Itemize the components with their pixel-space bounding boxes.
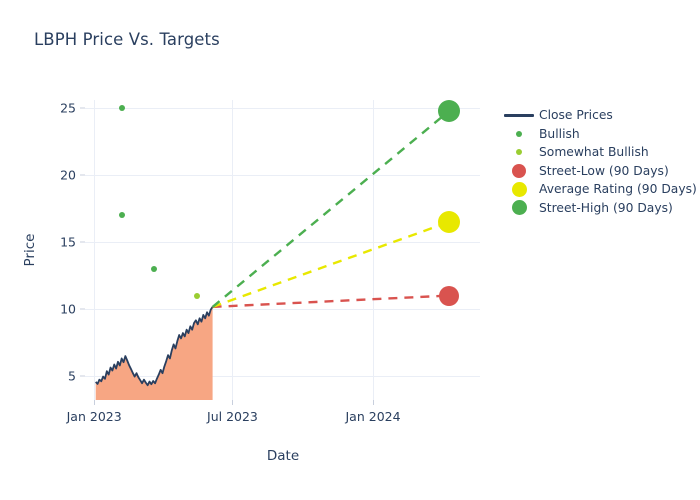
- legend-swatch: [502, 114, 536, 117]
- legend-label: Somewhat Bullish: [536, 145, 649, 159]
- x-tick-label: Jul 2023: [207, 409, 258, 424]
- y-tick-label: 15: [60, 234, 76, 249]
- legend-swatch: [502, 149, 536, 155]
- legend-item[interactable]: Street-High (90 Days): [502, 199, 692, 218]
- target-marker-layer: [85, 100, 480, 400]
- legend-item[interactable]: Somewhat Bullish: [502, 143, 692, 162]
- legend-swatch: [502, 182, 536, 197]
- legend-dot-icon: [516, 131, 522, 137]
- y-tick-label: 10: [60, 301, 76, 316]
- legend-dot-icon: [512, 200, 527, 215]
- chart-container: LBPH Price Vs. Targets Price Date 510152…: [0, 0, 700, 500]
- legend-label: Close Prices: [536, 108, 613, 122]
- legend-item[interactable]: Street-Low (90 Days): [502, 162, 692, 181]
- y-axis-title: Price: [22, 234, 38, 267]
- y-tick-label: 20: [60, 168, 76, 183]
- legend-dot-icon: [512, 164, 526, 178]
- legend-label: Street-High (90 Days): [536, 201, 673, 215]
- legend-swatch: [502, 131, 536, 137]
- legend-swatch: [502, 200, 536, 215]
- chart-legend[interactable]: Close PricesBullishSomewhat BullishStree…: [502, 106, 692, 217]
- x-tick-label: Jan 2024: [346, 409, 401, 424]
- plot-area: 510152025 Jan 2023Jul 2023Jan 2024: [85, 100, 480, 400]
- target-marker[interactable]: [438, 100, 460, 122]
- legend-item[interactable]: Average Rating (90 Days): [502, 180, 692, 199]
- y-tick-label: 25: [60, 101, 76, 116]
- legend-dot-icon: [512, 182, 527, 197]
- legend-item[interactable]: Close Prices: [502, 106, 692, 125]
- chart-title: LBPH Price Vs. Targets: [34, 30, 220, 49]
- x-tick-mark: [94, 400, 95, 405]
- legend-label: Street-Low (90 Days): [536, 164, 669, 178]
- legend-item[interactable]: Bullish: [502, 125, 692, 144]
- y-tick-label: 5: [68, 368, 76, 383]
- x-tick-mark: [232, 400, 233, 405]
- legend-line-icon: [504, 114, 534, 117]
- target-marker[interactable]: [439, 286, 459, 306]
- x-tick-mark: [373, 400, 374, 405]
- legend-swatch: [502, 164, 536, 178]
- x-axis-title: Date: [267, 448, 299, 464]
- legend-dot-icon: [516, 149, 522, 155]
- legend-label: Bullish: [536, 127, 580, 141]
- legend-label: Average Rating (90 Days): [536, 182, 697, 196]
- x-tick-label: Jan 2023: [67, 409, 122, 424]
- target-marker[interactable]: [438, 211, 460, 233]
